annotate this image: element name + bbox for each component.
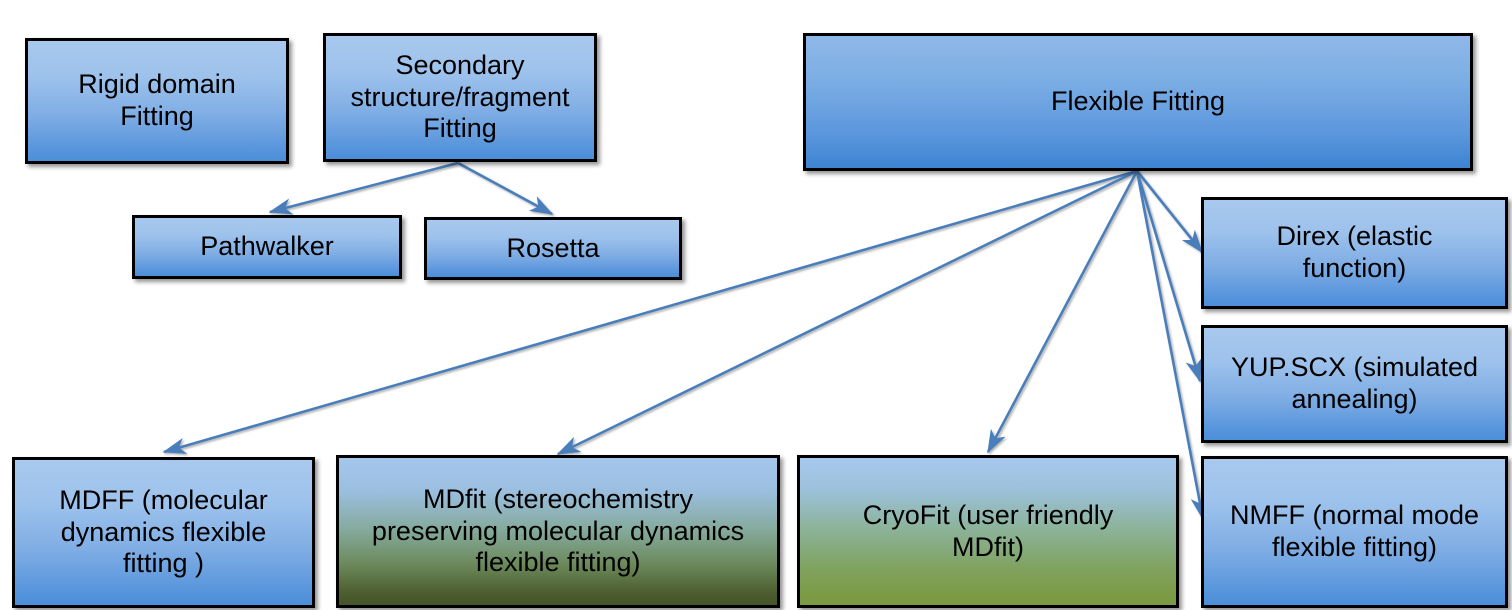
node-mdff[interactable]: MDFF (molecular dynamics flexible fittin…	[12, 457, 315, 608]
node-label: CryoFit (user friendly MDfit)	[808, 500, 1168, 564]
edge-secondary-to-pathwalker	[270, 163, 458, 212]
node-yup-scx[interactable]: YUP.SCX (simulated annealing)	[1201, 325, 1508, 443]
node-secondary-structure-fitting[interactable]: Secondary structure/fragment Fitting	[323, 33, 597, 162]
node-flexible-fitting[interactable]: Flexible Fitting	[803, 33, 1473, 171]
node-label: YUP.SCX (simulated annealing)	[1212, 352, 1497, 416]
edge-flexible-to-yupscx	[1137, 171, 1200, 381]
node-label: Secondary structure/fragment Fitting	[334, 50, 586, 146]
node-cryofit[interactable]: CryoFit (user friendly MDfit)	[797, 455, 1179, 608]
node-label: MDfit (stereochemistry preserving molecu…	[347, 484, 769, 580]
node-label: MDFF (molecular dynamics flexible fittin…	[23, 485, 304, 581]
node-label: Rigid domain Fitting	[36, 69, 278, 133]
edge-flexible-to-direx	[1137, 171, 1202, 252]
node-label: Rosetta	[435, 233, 671, 265]
edge-secondary-to-rosetta	[458, 163, 552, 214]
edge-flexible-to-cryofit	[988, 171, 1137, 452]
node-direx[interactable]: Direx (elastic function)	[1201, 197, 1508, 309]
node-label: Flexible Fitting	[814, 86, 1462, 118]
diagram-canvas: Rigid domain Fitting Secondary structure…	[0, 0, 1512, 610]
node-label: Direx (elastic function)	[1212, 221, 1497, 285]
edge-flexible-to-mdfit	[558, 171, 1137, 454]
edge-flexible-to-mdff	[164, 171, 1137, 452]
node-label: NMFF (normal mode flexible fitting)	[1212, 500, 1497, 564]
node-label: Pathwalker	[143, 231, 391, 263]
node-nmff[interactable]: NMFF (normal mode flexible fitting)	[1201, 456, 1508, 608]
node-mdfit[interactable]: MDfit (stereochemistry preserving molecu…	[336, 455, 780, 608]
node-rigid-domain-fitting[interactable]: Rigid domain Fitting	[25, 38, 289, 164]
node-pathwalker[interactable]: Pathwalker	[132, 215, 402, 279]
node-rosetta[interactable]: Rosetta	[424, 217, 682, 280]
